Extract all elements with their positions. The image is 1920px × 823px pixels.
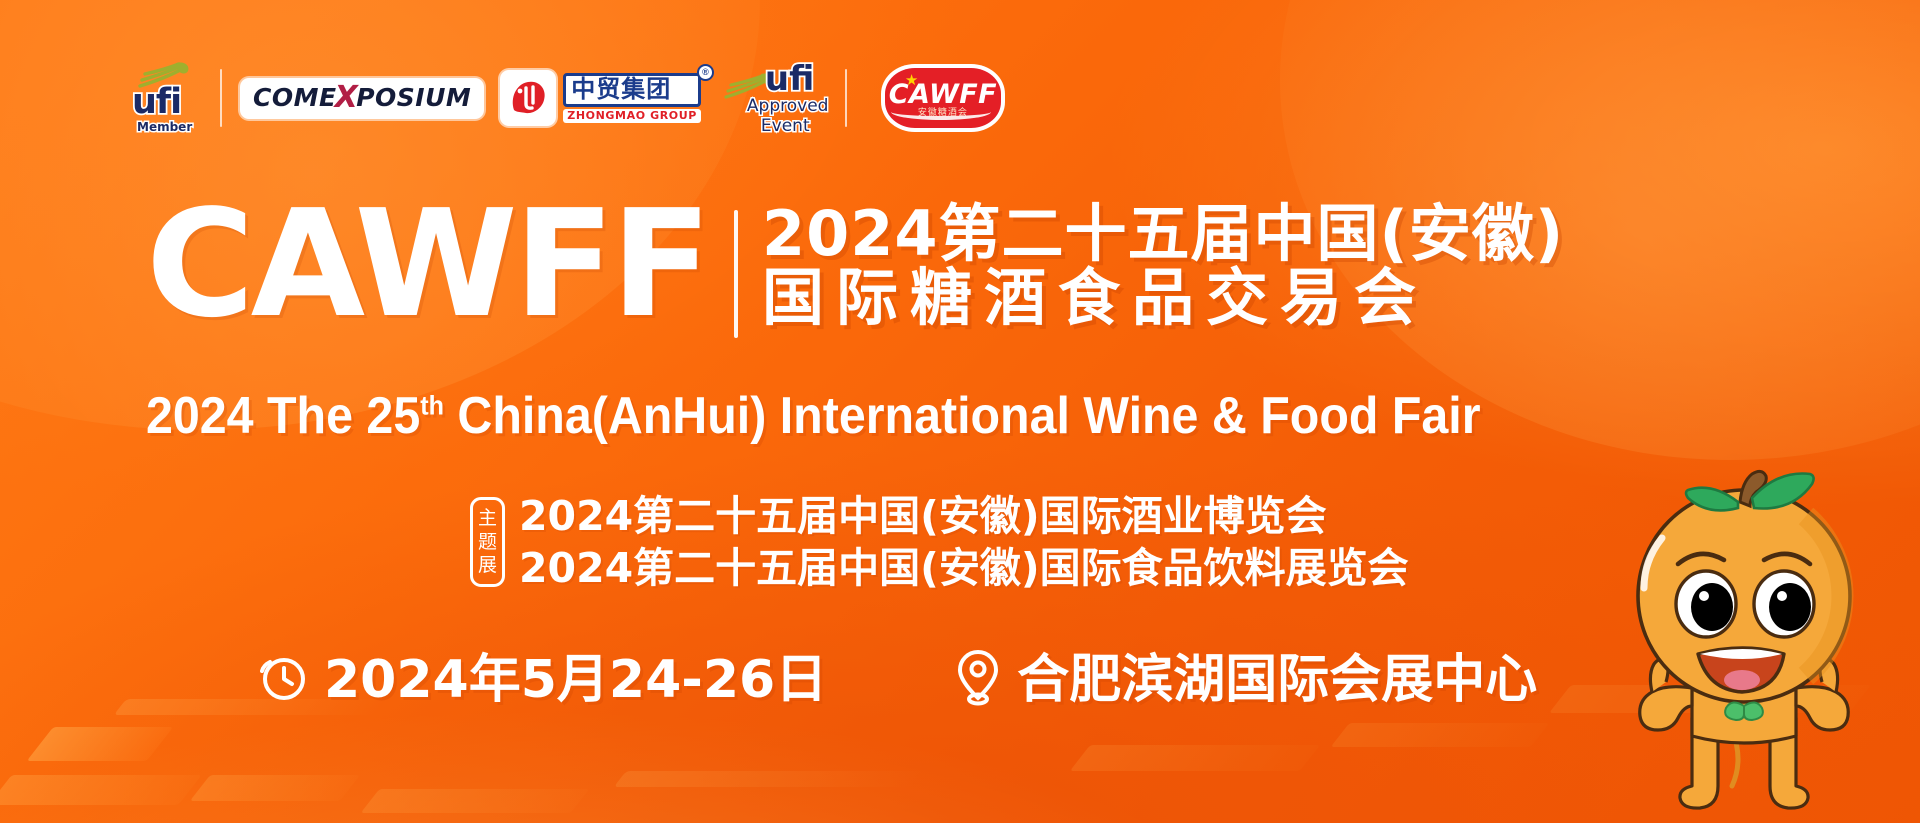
ufi-approved-line1: Approved bbox=[747, 98, 829, 115]
event-date-item: 2024年5月24-26日 bbox=[258, 652, 827, 707]
zhongmao-text: 中贸集团 ZHONGMAO GROUP ® bbox=[563, 73, 701, 123]
theme-lines: 2024第二十五届中国(安徽)国际酒业博览会 2024第二十五届中国(安徽)国际… bbox=[519, 492, 1409, 593]
partner-logo-bar: ufi Member COME X POSIUM 中贸集团 ZHONGMAO G… bbox=[128, 56, 1001, 140]
theme-line-2: 2024第二十五届中国(安徽)国际食品饮料展览会 bbox=[519, 544, 1409, 592]
theme-exhibitions-block: 主 题 展 2024第二十五届中国(安徽)国际酒业博览会 2024第二十五届中国… bbox=[470, 492, 1409, 593]
theme-line-1: 2024第二十五届中国(安徽)国际酒业博览会 bbox=[519, 492, 1409, 540]
ufi-member-logo: ufi Member bbox=[128, 59, 202, 137]
theme-tag-char-1: 主 bbox=[478, 507, 497, 529]
registered-trademark-icon: ® bbox=[697, 64, 714, 81]
zhongmao-group-logo: 中贸集团 ZHONGMAO GROUP ® bbox=[500, 70, 701, 126]
background-rhombus bbox=[1070, 745, 1320, 771]
comexposium-logo: COME X POSIUM bbox=[240, 78, 484, 119]
comexposium-x: X bbox=[335, 83, 359, 113]
zhongmao-mark-icon bbox=[500, 70, 556, 126]
star-icon: ★ bbox=[905, 71, 918, 89]
ufi-wordmark: ufi bbox=[132, 85, 181, 120]
background-rhombus bbox=[190, 775, 360, 801]
event-venue: 合肥滨湖国际会展中心 bbox=[1017, 654, 1537, 706]
cawff-wordmark: CAWFF bbox=[146, 196, 708, 332]
comexposium-part2: POSIUM bbox=[356, 85, 471, 110]
event-meta-row: 2024年5月24-26日 合肥滨湖国际会展中心 bbox=[258, 648, 1537, 711]
english-subtitle-ordinal: th bbox=[420, 391, 444, 421]
logo-divider bbox=[845, 69, 847, 127]
english-subtitle-suffix: China(AnHui) International Wine & Food F… bbox=[444, 387, 1481, 445]
cawff-badge-logo: ★ CAWFF 安徽糖酒会 bbox=[885, 68, 1001, 128]
event-venue-item: 合肥滨湖国际会展中心 bbox=[955, 648, 1537, 711]
orange-fruit-mascot bbox=[1600, 468, 1910, 823]
english-subtitle: 2024 The 25th China(AnHui) International… bbox=[146, 390, 1481, 442]
event-banner: ufi Member COME X POSIUM 中贸集团 ZHONGMAO G… bbox=[0, 0, 1920, 823]
theme-tag-char-2: 题 bbox=[478, 531, 497, 553]
cawff-badge-swoosh bbox=[891, 104, 991, 120]
ufi-approved-event-logo: ufi Approved Event bbox=[723, 58, 827, 138]
background-ribbon bbox=[614, 771, 927, 787]
location-pin-icon bbox=[955, 648, 1001, 711]
ufi-approved-line2: Event bbox=[761, 118, 810, 135]
chinese-title-line-1: 2024第二十五届中国(安徽) bbox=[762, 202, 1564, 266]
background-rhombus bbox=[1331, 723, 1550, 747]
theme-tag: 主 题 展 bbox=[470, 497, 505, 587]
background-rhombus bbox=[0, 775, 202, 805]
comexposium-part1: COME bbox=[253, 85, 337, 110]
chinese-title-block: 2024第二十五届中国(安徽) 国际糖酒食品交易会 bbox=[762, 196, 1564, 330]
ufi-approved-wordmark: ufi bbox=[765, 62, 814, 96]
zhongmao-en-name: ZHONGMAO GROUP bbox=[563, 109, 701, 123]
event-date: 2024年5月24-26日 bbox=[324, 654, 827, 706]
english-subtitle-prefix: 2024 The 25 bbox=[146, 387, 420, 445]
chinese-title-line-2: 国际糖酒食品交易会 bbox=[762, 266, 1564, 330]
ufi-member-label: Member bbox=[137, 121, 192, 133]
main-title: CAWFF 2024第二十五届中国(安徽) 国际糖酒食品交易会 bbox=[146, 196, 1564, 338]
background-rhombus bbox=[27, 727, 174, 761]
theme-tag-char-3: 展 bbox=[478, 554, 497, 576]
background-rhombus bbox=[361, 789, 590, 813]
clock-icon bbox=[258, 652, 308, 707]
logo-divider bbox=[220, 69, 222, 127]
zhongmao-cn-name: 中贸集团 bbox=[563, 73, 701, 107]
title-separator bbox=[734, 210, 738, 338]
